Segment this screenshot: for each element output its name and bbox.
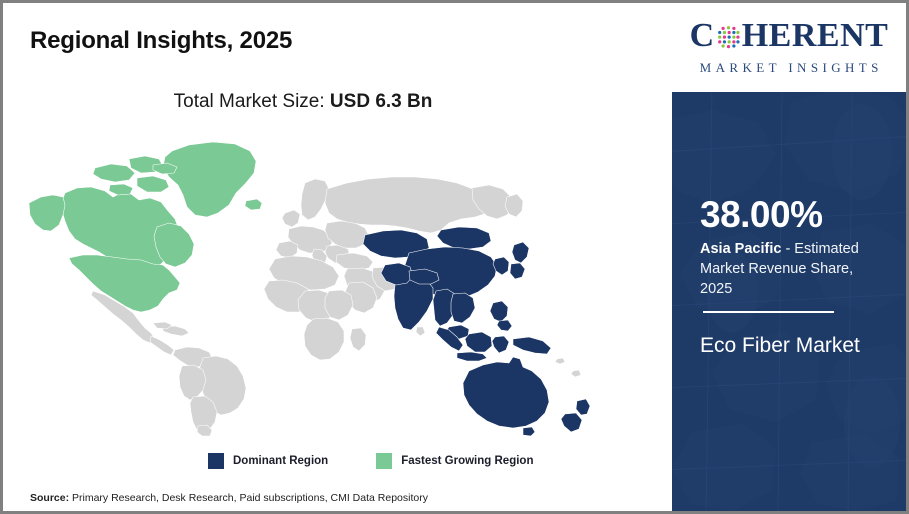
infographic-canvas: Regional Insights, 2025 Total Market Siz… [3, 3, 906, 511]
navy-square-icon [208, 453, 224, 469]
globe-dots-icon [715, 23, 742, 50]
map-region-sulawesi [492, 336, 509, 353]
market-size-prefix: Total Market Size: [174, 91, 330, 112]
map-region-southern-africa [304, 318, 344, 360]
map-region-new-zealand-north [576, 399, 590, 415]
map-region-arctic-island-3 [137, 176, 169, 192]
stat-panel: 38.00% Asia Pacific - Estimated Market R… [672, 92, 906, 511]
map-region-alaska [29, 195, 65, 231]
map-region-greenland [163, 142, 256, 217]
map-region-pacific-islands [555, 358, 565, 364]
logo-wordmark-before: C [690, 19, 715, 53]
map-region-sri-lanka [416, 327, 425, 336]
map-region-australia [463, 357, 549, 428]
map-region-turkey [336, 253, 373, 270]
map-region-iceland [245, 199, 262, 210]
left-content-pane: Regional Insights, 2025 Total Market Siz… [3, 3, 672, 511]
map-region-japan [512, 242, 529, 263]
legend-label-dominant: Dominant Region [233, 455, 328, 467]
page-title: Regional Insights, 2025 [30, 27, 292, 55]
map-region-borneo [465, 332, 492, 352]
panel-content: 38.00% Asia Pacific - Estimated Market R… [672, 92, 906, 511]
map-region-java [457, 352, 487, 361]
stat-value: 38.00% [700, 196, 823, 233]
source-note: Source: Primary Research, Desk Research,… [30, 492, 428, 504]
legend-label-fastest-growing: Fastest Growing Region [401, 455, 533, 467]
stat-description: Asia Pacific - Estimated Market Revenue … [700, 239, 885, 299]
source-text: Primary Research, Desk Research, Paid su… [69, 492, 428, 504]
legend-item-dominant: Dominant Region [208, 453, 328, 469]
panel-divider [703, 311, 834, 313]
map-region-philippines [490, 301, 508, 322]
world-map-svg [17, 131, 657, 436]
market-size-value: USD 6.3 Bn [330, 91, 432, 112]
logo-subwordmark: MARKET INSIGHTS [695, 60, 883, 76]
map-region-philippines-south [497, 320, 512, 331]
market-name: Eco Fiber Market [700, 330, 890, 362]
map-region-fiji [571, 370, 581, 377]
map-region-peru-bolivia [179, 365, 206, 400]
map-region-uk-ireland [282, 210, 300, 227]
total-market-size: Total Market Size: USD 6.3 Bn [3, 91, 603, 113]
map-region-japan-south [510, 263, 525, 279]
brand-logo: C [672, 3, 906, 92]
logo-wordmark-after: HERENT [742, 19, 889, 53]
map-region-arctic-island-4 [109, 184, 133, 195]
map-region-indochina [451, 293, 475, 323]
source-label: Source: [30, 492, 69, 504]
map-region-arctic-island-1 [93, 164, 135, 182]
map-region-east-africa [325, 290, 353, 320]
stat-region-name: Asia Pacific [700, 241, 781, 257]
map-legend: Dominant Region Fastest Growing Region [208, 453, 533, 469]
map-region-iberia [276, 241, 298, 258]
map-region-central-america [150, 336, 174, 355]
legend-item-fastest-growing: Fastest Growing Region [376, 453, 533, 469]
map-region-papua-new-guinea [513, 337, 551, 354]
map-region-scandinavia [301, 179, 329, 220]
map-region-united-states [69, 255, 180, 312]
map-region-mongolia [437, 227, 491, 249]
logo-wordmark: C [690, 19, 889, 53]
map-region-new-zealand-south [561, 413, 582, 432]
map-region-madagascar [350, 328, 366, 351]
world-map [17, 131, 657, 436]
map-region-tasmania [523, 427, 535, 436]
green-square-icon [376, 453, 392, 469]
